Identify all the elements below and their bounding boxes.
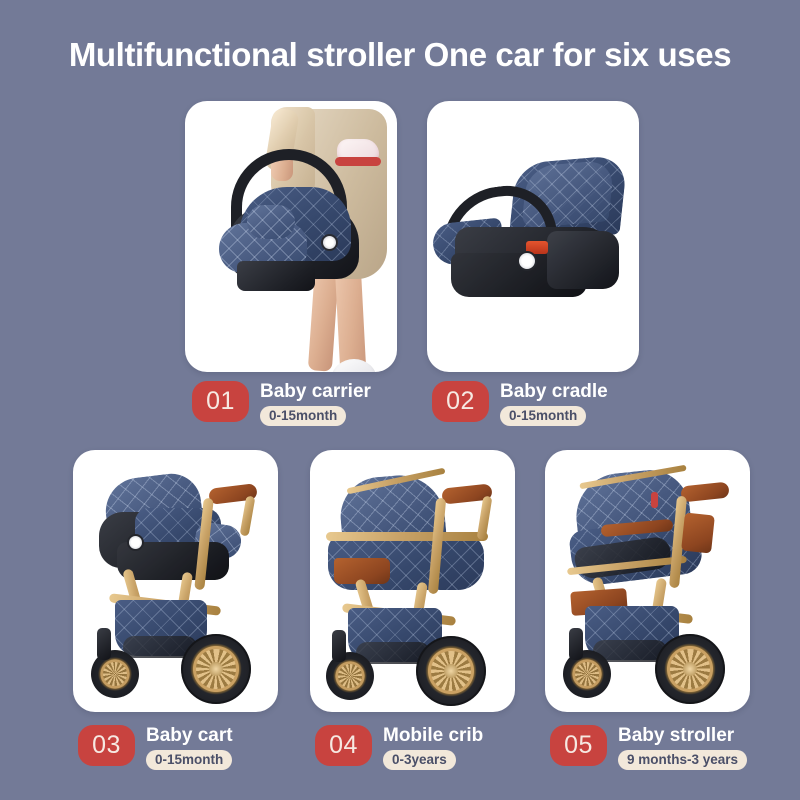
- mode-badge-03: 03: [78, 725, 135, 766]
- mode-name-04: Mobile crib: [383, 725, 483, 747]
- mode-card-03[interactable]: [73, 450, 278, 712]
- mode-label-04: 04 Mobile crib 0-3years: [315, 725, 483, 770]
- mode-name-01: Baby carrier: [260, 381, 371, 403]
- mode-image-01: [185, 101, 397, 372]
- mode-age-05: 9 months-3 years: [618, 750, 747, 770]
- mode-badge-05: 05: [550, 725, 607, 766]
- mode-age-03: 0-15month: [146, 750, 232, 770]
- mode-label-01: 01 Baby carrier 0-15month: [192, 381, 371, 426]
- mode-image-03: [73, 450, 278, 712]
- mode-image-04: [310, 450, 515, 712]
- mode-badge-02: 02: [432, 381, 489, 422]
- mode-card-02[interactable]: [427, 101, 639, 372]
- mode-name-05: Baby stroller: [618, 725, 747, 747]
- mode-image-05: [545, 450, 750, 712]
- page-title: Multifunctional stroller One car for six…: [0, 36, 800, 74]
- mode-card-04[interactable]: [310, 450, 515, 712]
- mode-badge-04: 04: [315, 725, 372, 766]
- mode-age-01: 0-15month: [260, 406, 346, 426]
- infographic-page: Multifunctional stroller One car for six…: [0, 0, 800, 800]
- mode-label-03: 03 Baby cart 0-15month: [78, 725, 233, 770]
- mode-label-02: 02 Baby cradle 0-15month: [432, 381, 608, 426]
- mode-card-05[interactable]: [545, 450, 750, 712]
- mode-card-01[interactable]: [185, 101, 397, 372]
- mode-age-02: 0-15month: [500, 406, 586, 426]
- mode-badge-01: 01: [192, 381, 249, 422]
- mode-label-05: 05 Baby stroller 9 months-3 years: [550, 725, 747, 770]
- mode-image-02: [427, 101, 639, 372]
- mode-name-02: Baby cradle: [500, 381, 608, 403]
- mode-name-03: Baby cart: [146, 725, 233, 747]
- mode-age-04: 0-3years: [383, 750, 456, 770]
